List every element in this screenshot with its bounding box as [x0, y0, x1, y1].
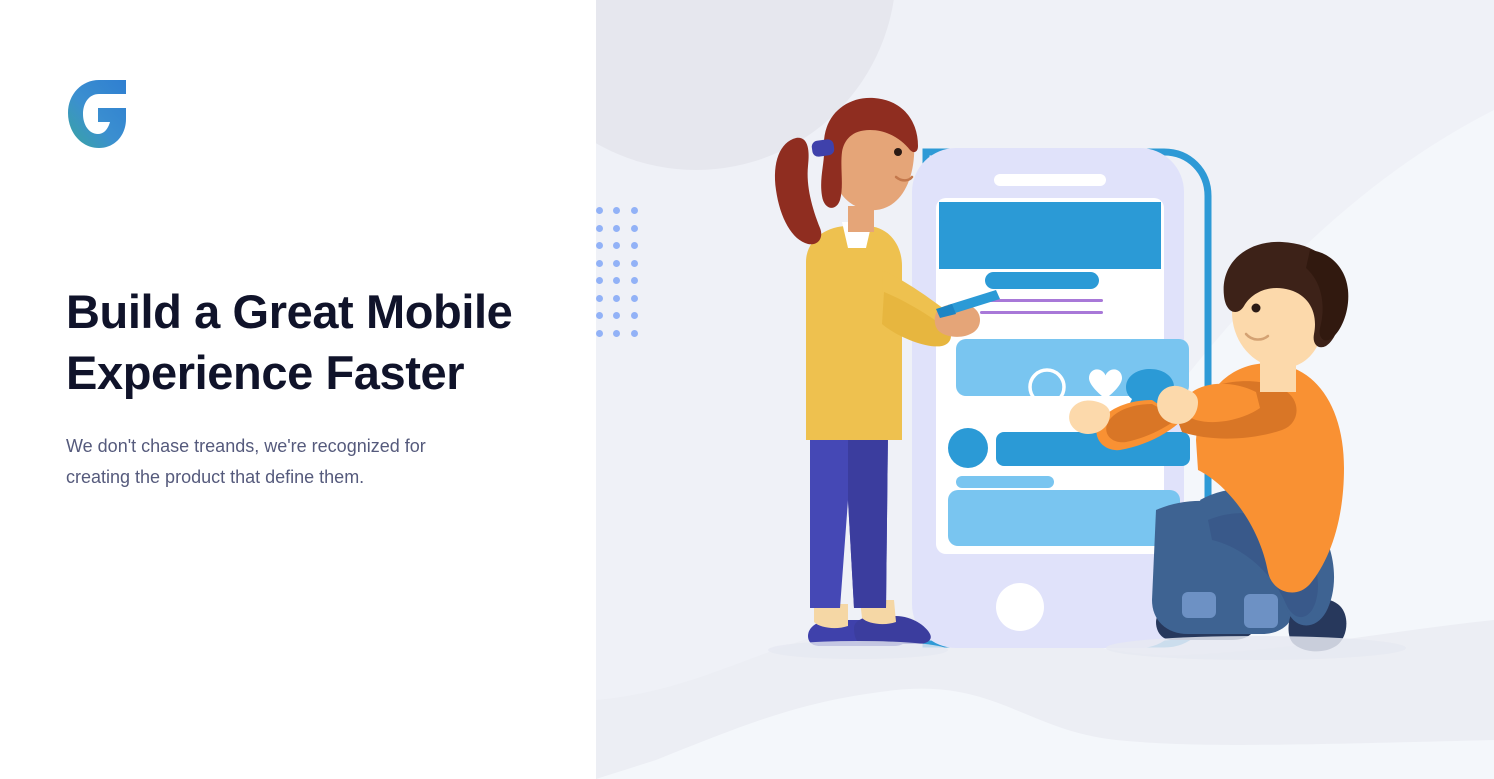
phone-home-button [996, 583, 1044, 631]
card-bottom [948, 490, 1180, 546]
dot [631, 330, 638, 337]
bar-primary [996, 432, 1190, 466]
dot [613, 207, 620, 214]
dot [631, 242, 638, 249]
page-subtitle: We don't chase treands, we're recognized… [66, 431, 506, 493]
avatar-circle [948, 428, 988, 468]
dot [613, 330, 620, 337]
dot [613, 312, 620, 319]
illustration-svg [596, 0, 1494, 779]
phone-pill [985, 272, 1099, 289]
dot [613, 225, 620, 232]
dot [596, 260, 603, 267]
dot [596, 330, 603, 337]
dot [596, 312, 603, 319]
dot [631, 295, 638, 302]
illustration-panel [596, 0, 1494, 779]
dot [631, 277, 638, 284]
dot [631, 207, 638, 214]
dot [631, 312, 638, 319]
dot [613, 277, 620, 284]
dot [596, 225, 603, 232]
page-title: Build a Great Mobile Experience Faster [66, 281, 586, 403]
hero-page: Build a Great Mobile Experience Faster W… [0, 0, 1494, 779]
brand-logo[interactable] [68, 80, 126, 148]
bar-secondary [956, 476, 1054, 488]
dot [596, 242, 603, 249]
dot [613, 260, 620, 267]
dot [596, 277, 603, 284]
dot [631, 225, 638, 232]
content-panel: Build a Great Mobile Experience Faster W… [0, 0, 596, 779]
phone-speaker [994, 174, 1106, 186]
dot [613, 295, 620, 302]
dot [596, 295, 603, 302]
dot [596, 207, 603, 214]
letter-g-logo-icon [68, 80, 126, 148]
dot [631, 260, 638, 267]
dot [613, 242, 620, 249]
